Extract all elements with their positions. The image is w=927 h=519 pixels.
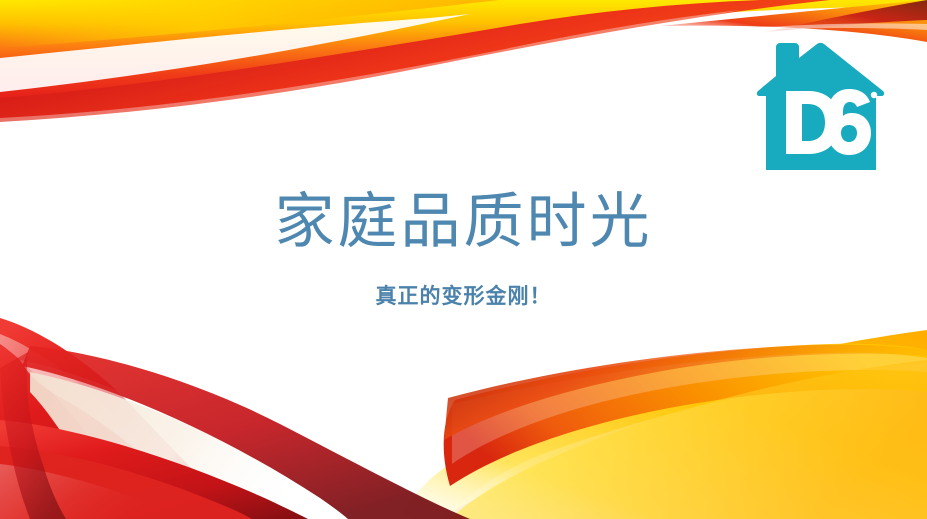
presentation-slide: 家庭品质时光 真正的变形金刚！	[0, 0, 927, 519]
page-subtitle: 真正的变形金刚！	[376, 283, 552, 311]
title-container: 家庭品质时光	[0, 186, 927, 258]
trademark-icon	[871, 92, 877, 98]
d6-wordmark-icon	[786, 89, 877, 155]
page-title: 家庭品质时光	[275, 186, 653, 258]
subtitle-container: 真正的变形金刚！	[0, 283, 927, 311]
house-d6-logo	[752, 38, 886, 174]
